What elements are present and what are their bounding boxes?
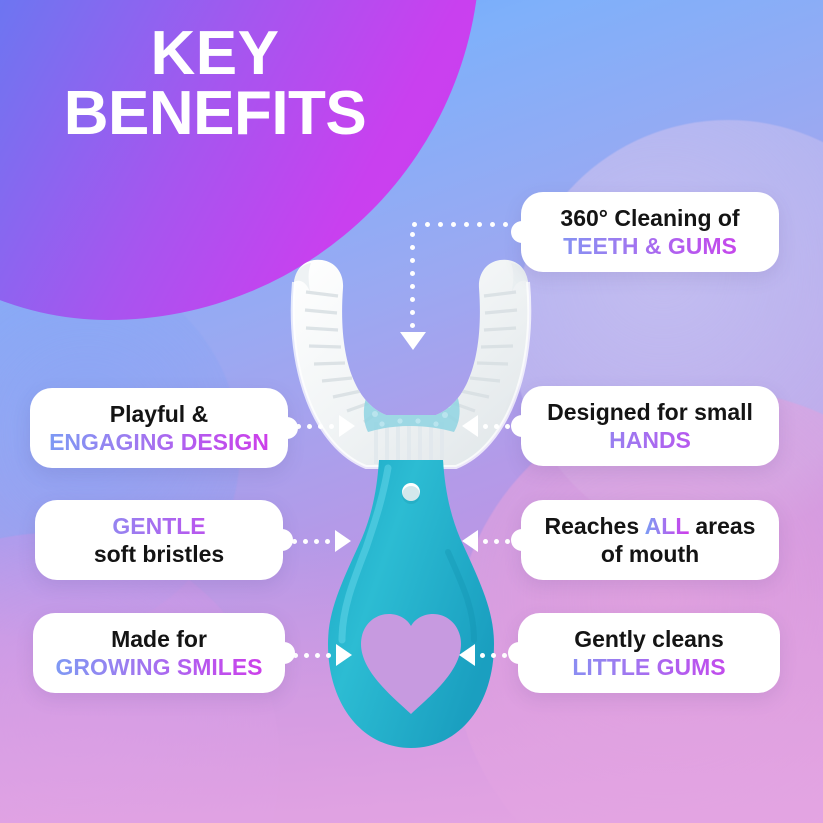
dot: [477, 222, 482, 227]
dot: [464, 222, 469, 227]
infographic-canvas: KEY BENEFITS: [0, 0, 823, 823]
arrowhead-left-icon: [459, 644, 475, 666]
dot: [503, 222, 508, 227]
dot: [314, 539, 319, 544]
dot: [505, 539, 510, 544]
bristle-accent-pad: [364, 385, 460, 433]
callout-notch-icon: [276, 417, 298, 439]
callout-made-for-growing-smiles[interactable]: Made for GROWING SMILES: [33, 613, 285, 693]
connector-left-2: [292, 530, 351, 552]
callout-line-2: soft bristles: [49, 540, 269, 568]
callout-line-1: Playful &: [44, 400, 274, 428]
connector-dots: [292, 539, 330, 544]
connector-dots: [296, 424, 334, 429]
callout-line-1-accent: ALL: [645, 513, 689, 539]
dot: [410, 284, 415, 289]
dot: [425, 222, 430, 227]
callout-line-2-accent: ENGAGING DESIGN: [44, 428, 274, 456]
callout-reaches-all-areas[interactable]: Reaches ALL areas of mouth: [521, 500, 779, 580]
callout-line-2: of mouth: [535, 540, 765, 568]
callout-line-2-accent: LITTLE GUMS: [532, 653, 766, 681]
connector-dots-vertical: [410, 232, 415, 328]
callout-line-1: Made for: [47, 625, 271, 653]
callout-line-1-accent: GENTLE: [49, 512, 269, 540]
dot: [491, 653, 496, 658]
dot: [325, 539, 330, 544]
dot: [505, 424, 510, 429]
dot: [410, 258, 415, 263]
dot: [318, 424, 323, 429]
callout-line-2-accent: TEETH & GUMS: [535, 232, 765, 260]
arrowhead-left-icon: [462, 530, 478, 552]
callout-line-1: Designed for small: [535, 398, 765, 426]
dot: [451, 222, 456, 227]
page-title-line-1: KEY: [151, 19, 280, 88]
arrowhead-right-icon: [339, 415, 355, 437]
callout-playful-engaging-design[interactable]: Playful & ENGAGING DESIGN: [30, 388, 288, 468]
connector-left-3: [293, 644, 352, 666]
dot: [480, 653, 485, 658]
dot: [410, 232, 415, 237]
dot: [329, 424, 334, 429]
connector-left-1: [296, 415, 355, 437]
callout-notch-icon: [511, 221, 533, 243]
arrowhead-right-icon: [336, 644, 352, 666]
page-title-line-2: BENEFITS: [0, 84, 430, 144]
connector-dots: [293, 653, 331, 658]
dot: [410, 310, 415, 315]
dot: [326, 653, 331, 658]
dot: [490, 222, 495, 227]
callout-line-1: 360° Cleaning of: [535, 204, 765, 232]
dot: [410, 297, 415, 302]
dot: [438, 222, 443, 227]
dot: [307, 424, 312, 429]
brush-handle: [328, 460, 494, 748]
callout-line-2-accent: HANDS: [535, 426, 765, 454]
callout-cleaning-360[interactable]: 360° Cleaning of TEETH & GUMS: [521, 192, 779, 272]
arrowhead-left-icon: [462, 415, 478, 437]
dot: [410, 271, 415, 276]
callout-notch-icon: [508, 642, 530, 664]
page-title: KEY BENEFITS: [0, 24, 430, 143]
dot: [410, 245, 415, 250]
dot: [410, 323, 415, 328]
callout-line-1: Gently cleans: [532, 625, 766, 653]
callout-line-1-post: areas: [689, 513, 756, 539]
arrowhead-right-icon: [335, 530, 351, 552]
callout-gently-cleans-little-gums[interactable]: Gently cleans LITTLE GUMS: [518, 613, 780, 693]
dot: [303, 539, 308, 544]
dot: [315, 653, 320, 658]
dot: [483, 424, 488, 429]
callout-line-2-accent: GROWING SMILES: [47, 653, 271, 681]
callout-line-1: Reaches ALL areas: [535, 512, 765, 540]
dot: [412, 222, 417, 227]
callout-gentle-soft-bristles[interactable]: GENTLE soft bristles: [35, 500, 283, 580]
dot: [502, 653, 507, 658]
callout-designed-for-small-hands[interactable]: Designed for small HANDS: [521, 386, 779, 466]
callout-notch-icon: [271, 529, 293, 551]
callout-notch-icon: [273, 642, 295, 664]
arrowhead-down-icon: [400, 332, 426, 350]
dot: [483, 539, 488, 544]
callout-notch-icon: [511, 415, 533, 437]
dot: [304, 653, 309, 658]
dot: [494, 539, 499, 544]
callout-notch-icon: [511, 529, 533, 551]
dot: [494, 424, 499, 429]
callout-line-1-pre: Reaches: [545, 513, 645, 539]
